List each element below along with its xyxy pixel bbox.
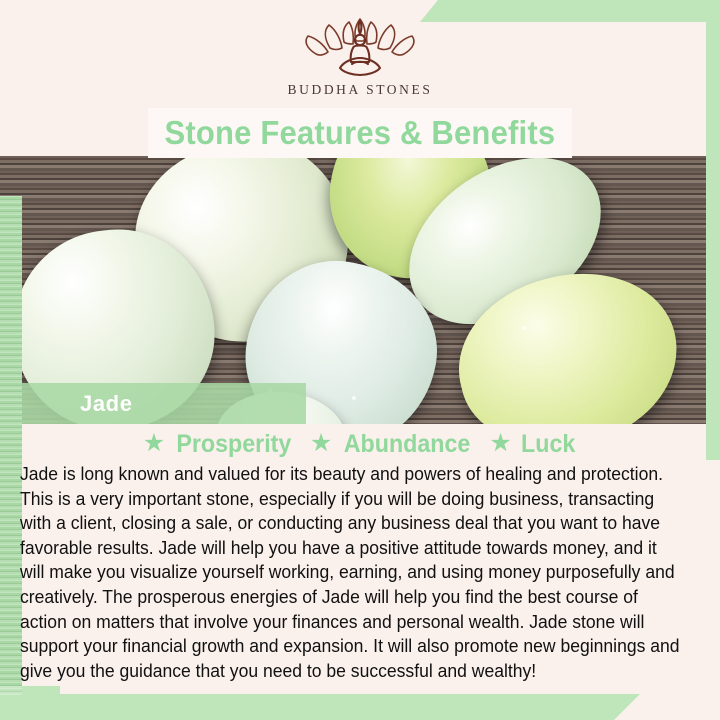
star-icon: ★ [489, 431, 511, 456]
benefit-item: ★ Abundance [310, 430, 476, 459]
stone-name-band: Jade [22, 383, 306, 424]
stone-name-label: Jade [80, 391, 133, 417]
sparkle [352, 396, 356, 400]
benefit-item: ★ Luck [489, 430, 577, 459]
sparkle [522, 326, 526, 330]
star-icon: ★ [143, 431, 165, 456]
stone-features-infographic: BUDDHA STONES Stone Features & Benefits … [0, 0, 720, 720]
benefit-label-luck: Luck [521, 430, 575, 459]
benefit-label-prosperity: Prosperity [177, 430, 292, 459]
star-icon: ★ [310, 431, 332, 456]
description-text: Jade is long known and valued for its be… [20, 462, 680, 683]
brand-header: BUDDHA STONES [0, 0, 720, 110]
brand-name: BUDDHA STONES [288, 82, 433, 98]
page-title: Stone Features & Benefits [165, 114, 556, 152]
benefit-item: ★ Prosperity [143, 430, 296, 459]
benefit-label-abundance: Abundance [344, 430, 471, 459]
lotus-meditation-figure-icon [296, 14, 424, 80]
bottom-green-band [0, 694, 640, 720]
title-plate: Stone Features & Benefits [148, 108, 572, 158]
benefits-row: ★ Prosperity ★ Abundance ★ Luck [0, 430, 720, 459]
